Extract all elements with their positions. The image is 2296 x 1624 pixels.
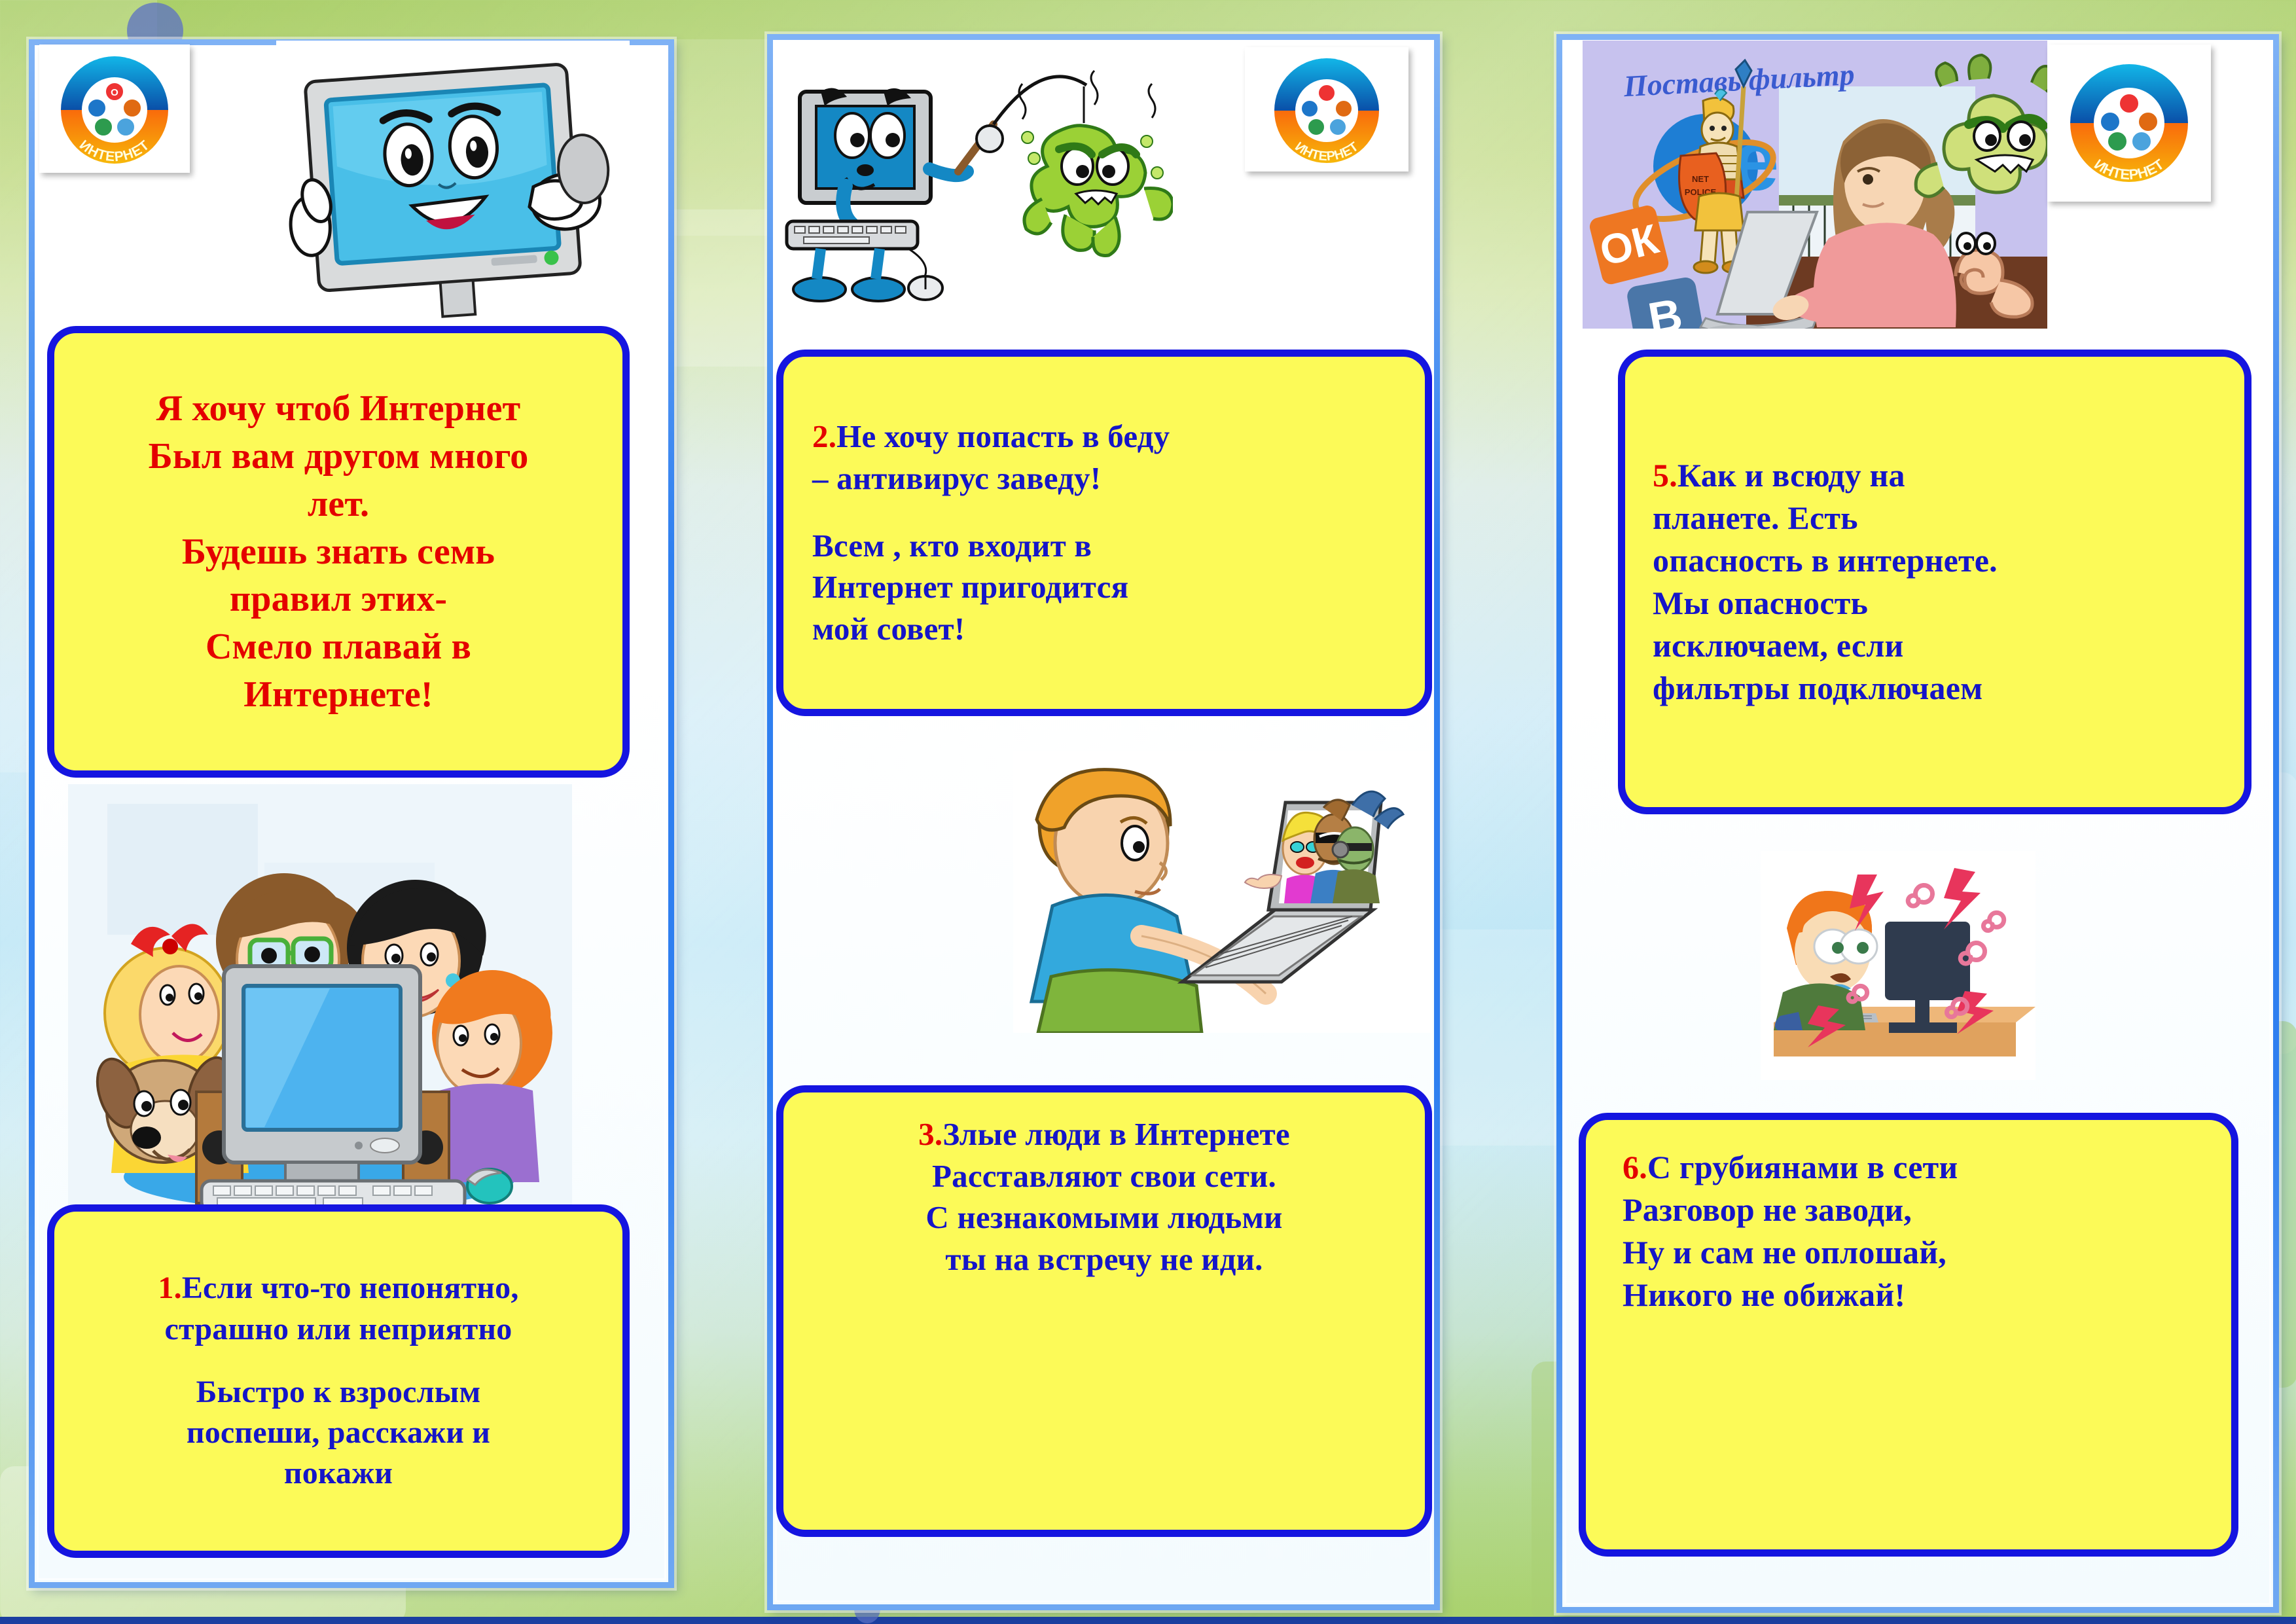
callout-rule-2: 2.Не хочу попасть в беду – антивирус зав…	[776, 350, 1432, 716]
poem-line: Будешь знать семь	[66, 528, 611, 576]
rule-line: С грубиянами в сети	[1647, 1149, 1958, 1185]
rule-line: Как и всюду на	[1677, 457, 1905, 494]
poem-line: страшно или неприятно	[66, 1309, 611, 1350]
callout-rule-3: 3.Злые люди в Интернете Расставляют свои…	[776, 1085, 1432, 1537]
callout-intro-text: Я хочу чтоб Интернет Был вам другом мног…	[54, 381, 622, 723]
rule-number: 3.	[918, 1116, 942, 1152]
poem-line: Я хочу чтоб Интернет	[66, 385, 611, 433]
rule-number: 1.	[158, 1271, 181, 1305]
rule-number: 5.	[1653, 457, 1677, 494]
rule-line: Не хочу попасть в беду	[836, 418, 1170, 454]
poem-line: 5.Как и всюду на	[1653, 454, 2233, 497]
boy-at-computer-angry-lightning	[1761, 851, 2036, 1080]
callout-rule-6-text: 6.С грубиянами в сети Разговор не заводи…	[1586, 1142, 2231, 1320]
poem-line: покажи	[66, 1453, 611, 1494]
callout-intro-poem: Я хочу чтоб Интернет Был вам другом мног…	[47, 326, 630, 778]
bezopasnyi-internet-logo: O БЕЗОПАСНЫЙ ИНТЕРНЕТ	[39, 45, 190, 173]
bezopasnyi-internet-logo: БЕЗОПАСНЫЙ ИНТЕРНЕТ	[1245, 47, 1408, 171]
poem-line: Мы опасность	[1653, 582, 2233, 624]
poem-line: – антивирус заведу!	[812, 458, 1413, 499]
poem-line: лет.	[66, 480, 611, 528]
poem-line: поспеши, расскажи и	[66, 1413, 611, 1453]
poem-line: Ну и сам не оплошай,	[1623, 1231, 2219, 1274]
poem-line: мой совет!	[812, 608, 1413, 650]
callout-rule-1: 1.Если что-то непонятно, страшно или неп…	[47, 1204, 630, 1558]
poem-line: 3.Злые люди в Интернете	[795, 1113, 1413, 1155]
rule-number: 2.	[812, 418, 836, 454]
bezopasnyi-internet-logo: БЕЗОПАСНЫЙ ИНТЕРНЕТ	[2047, 45, 2211, 202]
children-around-computer	[68, 784, 572, 1216]
poem-line: Был вам другом много	[66, 433, 611, 480]
bottom-rule	[0, 1617, 2296, 1624]
poem-line: Смело плавай в	[66, 623, 611, 671]
rule-line: Злые люди в Интернете	[942, 1116, 1290, 1152]
callout-rule-3-text: 3.Злые люди в Интернете Расставляют свои…	[783, 1110, 1425, 1284]
callout-rule-2-text: 2.Не хочу попасть в беду – антивирус зав…	[783, 412, 1425, 654]
poem-line: 6.С грубиянами в сети	[1623, 1146, 2219, 1189]
callout-rule-6: 6.С грубиянами в сети Разговор не заводи…	[1579, 1113, 2238, 1557]
poem-line: Разговор не заводи,	[1623, 1189, 2219, 1231]
poem-line: исключаем, если	[1653, 624, 2233, 667]
smiling-monitor-mascot	[276, 41, 630, 329]
callout-rule-5-text: 5.Как и всюду на планете. Есть опасность…	[1625, 450, 2244, 713]
svg-text:O: O	[111, 87, 118, 98]
computer-fishing-virus	[780, 41, 1173, 329]
poem-line: Быстро к взрослым	[66, 1372, 611, 1413]
poem-line: планете. Есть	[1653, 497, 2233, 539]
poem-line: ты на встречу не иди.	[795, 1238, 1413, 1280]
poem-line: 2.Не хочу попасть в беду	[812, 416, 1413, 458]
callout-rule-5: 5.Как и всюду на планете. Есть опасность…	[1618, 350, 2251, 814]
poem-line: 1.Если что-то непонятно,	[66, 1268, 611, 1308]
poem-line: Интернет пригодится	[812, 566, 1413, 608]
poem-line: С незнакомыми людьми	[795, 1197, 1413, 1238]
poem-line: правил этих-	[66, 575, 611, 623]
postav-filtr-banner: Поставь фильтр e NET POLICE	[1583, 41, 2047, 329]
poem-line: фильтры подключаем	[1653, 667, 2233, 710]
poem-line: Никого не обижай!	[1623, 1274, 2219, 1316]
boy-laptop-strangers	[1013, 751, 1432, 1033]
poem-line: Всем , кто входит в	[812, 525, 1413, 567]
poem-line: Интернете!	[66, 671, 611, 719]
callout-rule-1-text: 1.Если что-то непонятно, страшно или неп…	[54, 1264, 622, 1498]
rule-line: Если что-то непонятно,	[182, 1271, 519, 1305]
poem-line: опасность в интернете.	[1653, 539, 2233, 582]
shield-label-line1: NET	[1692, 174, 1709, 184]
poem-line: Расставляют свои сети.	[795, 1155, 1413, 1197]
rule-number: 6.	[1623, 1149, 1647, 1185]
